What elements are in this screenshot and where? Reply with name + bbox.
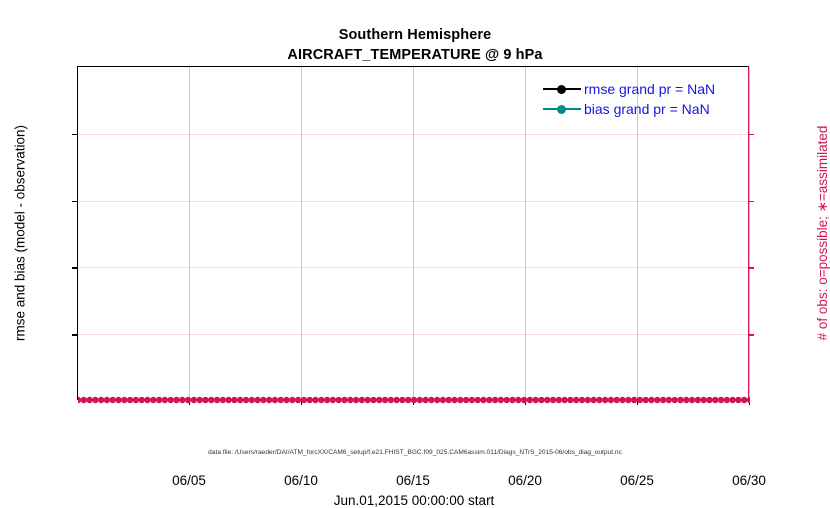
axis-tick-label-bottom: 06/20 bbox=[508, 473, 542, 488]
axis-tick-label-bottom: 06/15 bbox=[396, 473, 430, 488]
axis-tick-label-bottom: 06/30 bbox=[732, 473, 766, 488]
gridline-vertical bbox=[525, 67, 526, 399]
obs-markers-svg bbox=[78, 394, 750, 406]
legend-item-bias[interactable]: bias grand pr = NaN bbox=[543, 99, 748, 119]
chart-title: Southern Hemisphere AIRCRAFT_TEMPERATURE… bbox=[0, 26, 830, 65]
legend-marker-bias-icon bbox=[543, 103, 581, 115]
gridline-vertical bbox=[413, 67, 414, 399]
tick-mark-left-axis bbox=[72, 134, 78, 135]
tick-mark-right-axis bbox=[748, 334, 754, 335]
legend-marker-rmse-icon bbox=[543, 83, 581, 95]
tick-mark-left-axis bbox=[72, 201, 78, 202]
title-line-region: Southern Hemisphere bbox=[0, 26, 830, 46]
axis-tick-label-bottom: 06/05 bbox=[172, 473, 206, 488]
axis-tick-label-bottom: 06/25 bbox=[620, 473, 654, 488]
tick-mark-left-axis bbox=[72, 334, 78, 335]
gridline-vertical bbox=[301, 67, 302, 399]
chart-legend: rmse grand pr = NaN bias grand pr = NaN bbox=[543, 79, 748, 119]
obs-count-marker-series bbox=[78, 394, 748, 403]
gridline-vertical bbox=[749, 67, 750, 399]
y-axis-title-left: rmse and bias (model - observation) bbox=[13, 43, 28, 423]
tick-mark-left-axis bbox=[72, 267, 78, 268]
tick-mark-right-axis bbox=[748, 134, 754, 135]
tick-mark-right-axis bbox=[748, 201, 754, 202]
legend-label-bias: bias grand pr = NaN bbox=[584, 102, 710, 116]
legend-item-rmse[interactable]: rmse grand pr = NaN bbox=[543, 79, 748, 99]
tick-mark-right-axis bbox=[748, 267, 754, 268]
y-axis-title-right: # of obs: o=possible; ∗=assimilated bbox=[815, 43, 830, 423]
legend-label-rmse: rmse grand pr = NaN bbox=[584, 82, 715, 96]
gridline-vertical bbox=[189, 67, 190, 399]
data-file-caption: data file: /Users/raeder/DAI/ATM_forcXX/… bbox=[0, 449, 830, 456]
axis-tick-label-bottom: 06/10 bbox=[284, 473, 318, 488]
x-axis-title: Jun.01,2015 00:00:00 start bbox=[78, 493, 750, 508]
plot-area: 1 0.8 0.6 0.4 0.2 0 5 4 3 2 1 0 06/05 06… bbox=[77, 66, 749, 400]
title-line-variable: AIRCRAFT_TEMPERATURE @ 9 hPa bbox=[0, 46, 830, 66]
